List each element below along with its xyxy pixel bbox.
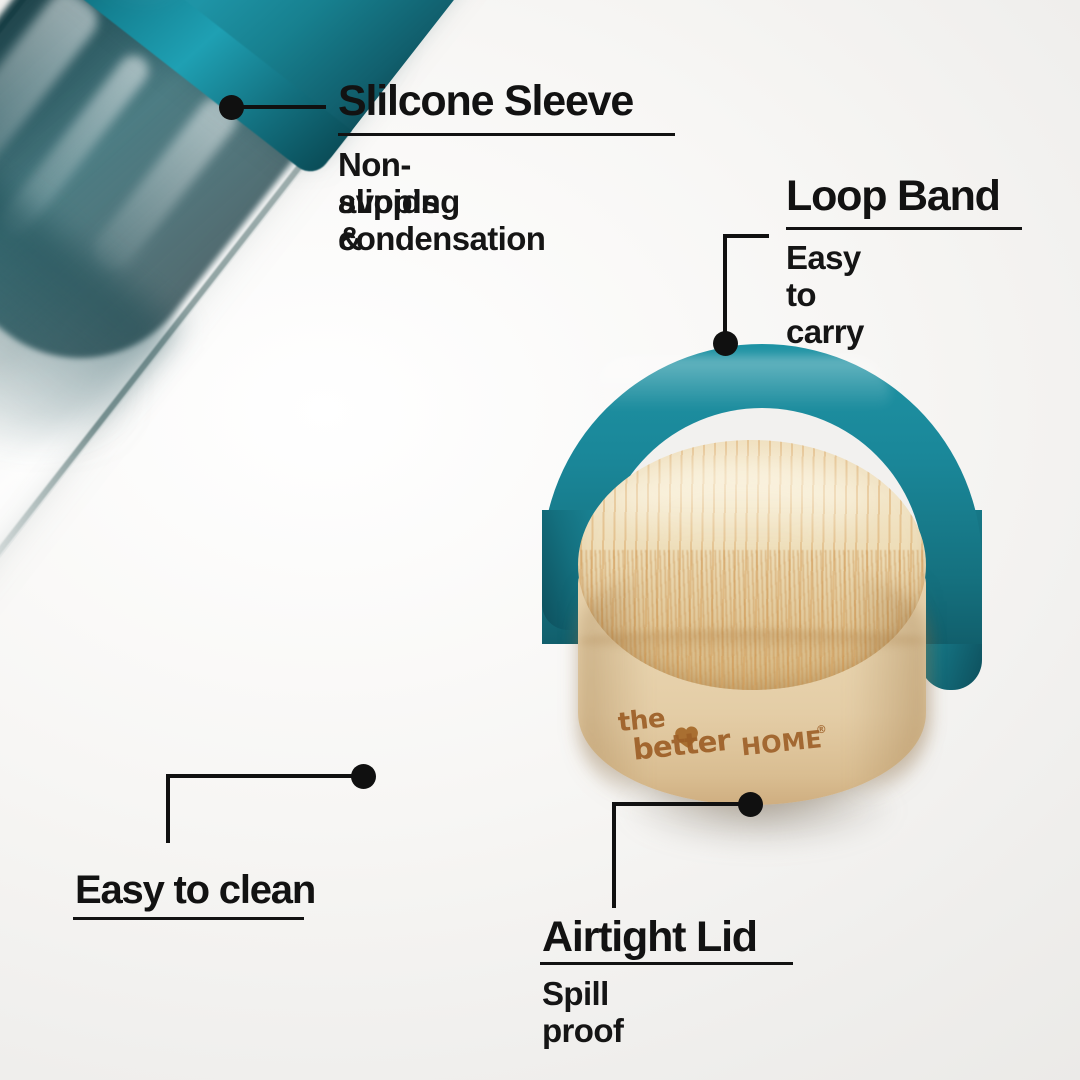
callout-line-loop-band-horizontal — [723, 234, 769, 238]
callout-title-silicone-sleeve: Slilcone Sleeve — [338, 80, 633, 123]
brand-home: HOME — [740, 725, 823, 761]
callout-rule-airtight-lid — [540, 962, 793, 965]
callout-line-airtight-lid-horizontal — [612, 802, 744, 806]
callout-subtitle-airtight-lid: Spill proof — [542, 976, 623, 1050]
callout-title-easy-to-clean: Easy to clean — [75, 870, 315, 910]
callout-line-easy-to-clean-vertical — [166, 774, 170, 843]
callout-line-loop-band-vertical — [723, 234, 727, 338]
product-infographic: the better HOME ® Slilcone Sleeve Non-sl… — [0, 0, 1080, 1080]
callout-title-loop-band: Loop Band — [786, 175, 1000, 218]
callout-rule-easy-to-clean — [73, 917, 304, 920]
bamboo-lid-highlight — [618, 460, 868, 550]
callout-rule-silicone-sleeve — [338, 133, 675, 136]
callout-line-silicone-sleeve — [242, 105, 326, 109]
loop-band-highlight — [590, 356, 890, 410]
callout-dot-silicone-sleeve — [219, 95, 244, 120]
brand-registered: ® — [815, 723, 827, 737]
bamboo-lid-assembly: the better HOME ® — [520, 330, 1020, 850]
callout-line-easy-to-clean-horizontal — [166, 774, 358, 778]
callout-rule-loop-band — [786, 227, 1022, 230]
callout-line-airtight-lid-vertical — [612, 802, 616, 908]
callout-title-airtight-lid: Airtight Lid — [542, 916, 757, 959]
callout-subtitle-loop-band: Easy to carry — [786, 240, 864, 351]
callout-subtitle-silicone-sleeve-2: avoids condensation — [338, 184, 545, 258]
